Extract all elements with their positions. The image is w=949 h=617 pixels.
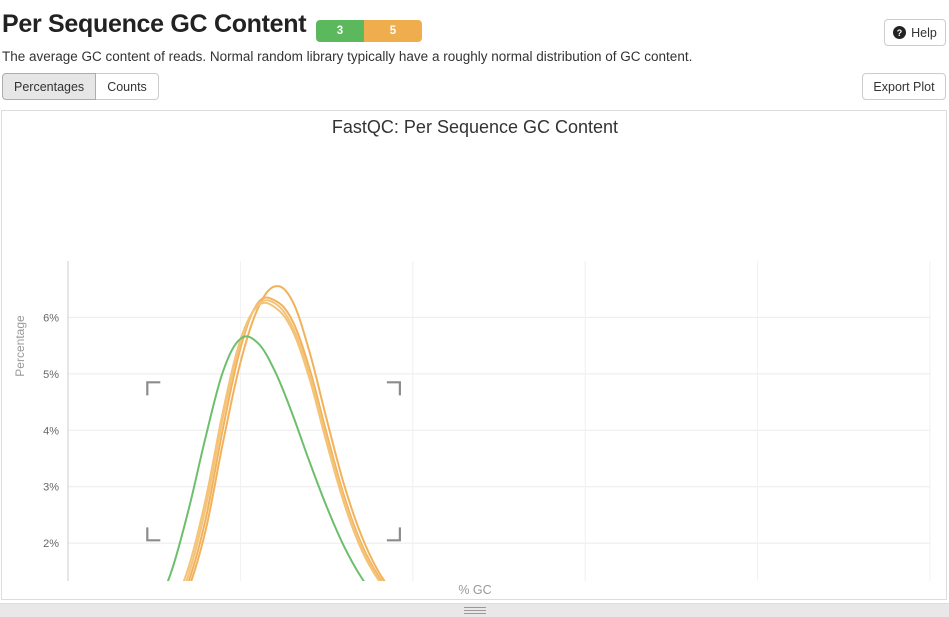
header: Per Sequence GC Content 3 5 ? Help: [0, 6, 949, 44]
svg-text:3%: 3%: [43, 482, 59, 494]
dataset-tab-group: Percentages Counts: [2, 73, 159, 100]
svg-text:2%: 2%: [43, 538, 59, 550]
question-circle-icon: ?: [893, 26, 906, 39]
page-title: Per Sequence GC Content: [2, 10, 306, 39]
status-badge-group: 3 5: [316, 20, 422, 42]
y-axis-label: Percentage: [13, 306, 27, 386]
help-button-label: Help: [911, 26, 937, 40]
plot-card: FastQC: Per Sequence GC Content 0%1%2%3%…: [1, 110, 947, 600]
plot-resize-bar[interactable]: [0, 603, 949, 617]
gc-content-line-chart[interactable]: 0%1%2%3%4%5%6%0% GC20% GC40% GC60% GC80%…: [2, 111, 947, 581]
per-sequence-gc-content-panel: Per Sequence GC Content 3 5 ? Help The a…: [0, 0, 949, 616]
svg-text:4%: 4%: [43, 425, 59, 437]
svg-text:6%: 6%: [43, 312, 59, 324]
selection-corner-handle-1[interactable]: [387, 382, 400, 395]
help-button[interactable]: ? Help: [884, 19, 946, 46]
svg-text:?: ?: [897, 28, 902, 38]
series-line: [68, 303, 930, 581]
description-text: The average GC content of reads. Normal …: [2, 49, 692, 64]
svg-text:5%: 5%: [43, 369, 59, 381]
tab-counts[interactable]: Counts: [96, 73, 159, 100]
tab-percentages[interactable]: Percentages: [2, 73, 96, 100]
selection-corner-handle-2[interactable]: [147, 527, 160, 540]
x-axis-label: % GC: [2, 583, 947, 597]
selection-corner-handle-0[interactable]: [147, 382, 160, 395]
export-plot-button[interactable]: Export Plot: [862, 73, 946, 100]
status-badge-warn[interactable]: 5: [364, 20, 422, 42]
status-badge-pass[interactable]: 3: [316, 20, 364, 42]
selection-corner-handle-3[interactable]: [387, 527, 400, 540]
resize-grip-icon[interactable]: [464, 607, 486, 616]
